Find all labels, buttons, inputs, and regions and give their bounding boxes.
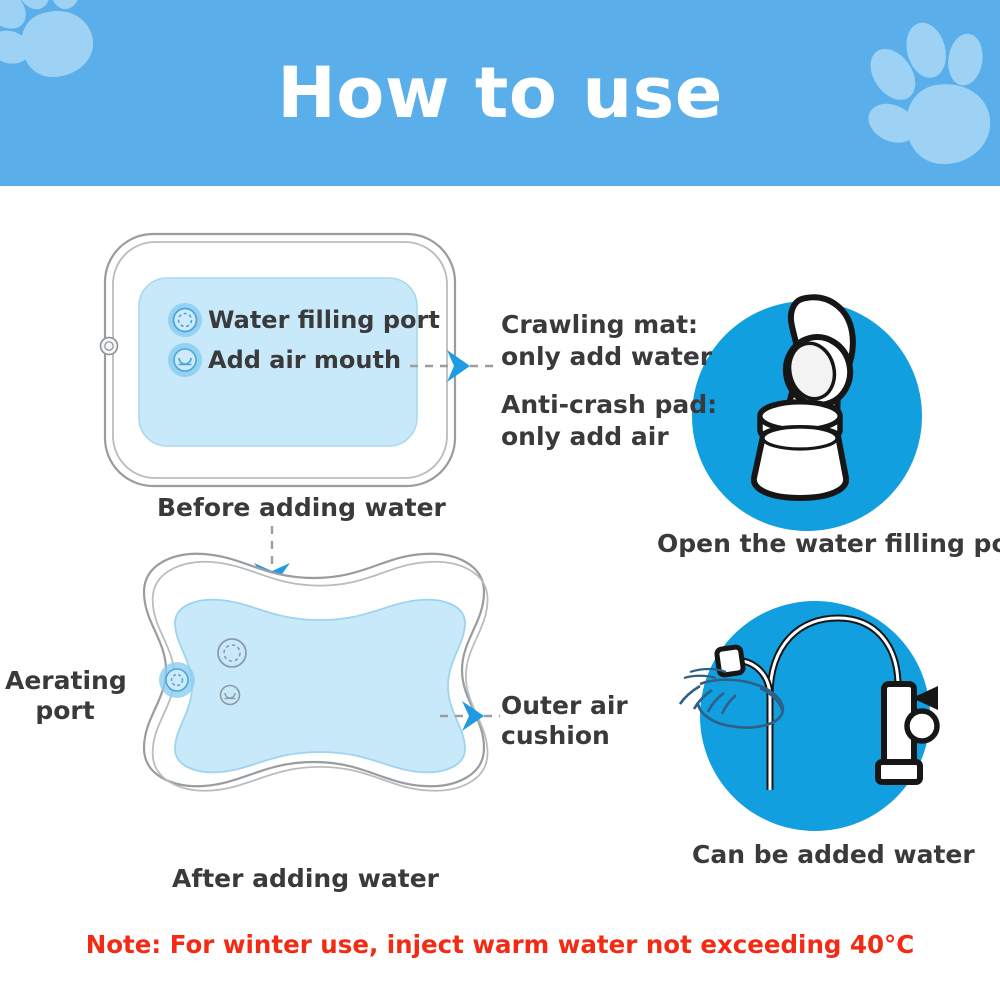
water-filling-port-label: Water filling port: [208, 306, 440, 334]
mat-after-illustration: [144, 554, 488, 791]
mat-before-caption: Before adding water: [157, 493, 446, 523]
anti-crash-pad-note-line1: Anti-crash pad:: [501, 390, 717, 420]
page-title: How to use: [0, 0, 1000, 186]
outer-air-cushion-label: Outer air cushion: [501, 691, 628, 750]
crawling-mat-note-line2: only add water: [501, 342, 712, 372]
side-valve-icon: [101, 338, 118, 355]
step-1-illustration: [692, 297, 922, 531]
diagram-svg: [0, 186, 1000, 1000]
mat-after-caption: After adding water: [172, 864, 439, 894]
instruction-diagram-area: Water filling port Add air mouth Before …: [0, 186, 1000, 1000]
step-2-illustration: [680, 601, 938, 831]
water-fill-port-icon: [168, 303, 202, 337]
page-header: How to use: [0, 0, 1000, 186]
step-1-caption: Open the water filling port: [657, 529, 1000, 559]
crawling-mat-note-line1: Crawling mat:: [501, 310, 698, 340]
aerating-port-label: Aerating port: [5, 666, 125, 725]
air-mouth-port-icon: [168, 343, 202, 377]
anti-crash-pad-note-line2: only add air: [501, 422, 669, 452]
winter-use-note: Note: For winter use, inject warm water …: [0, 930, 1000, 959]
aerating-port-icon: [159, 662, 195, 698]
step-2-caption: Can be added water: [692, 840, 975, 870]
add-air-mouth-label: Add air mouth: [208, 346, 401, 374]
